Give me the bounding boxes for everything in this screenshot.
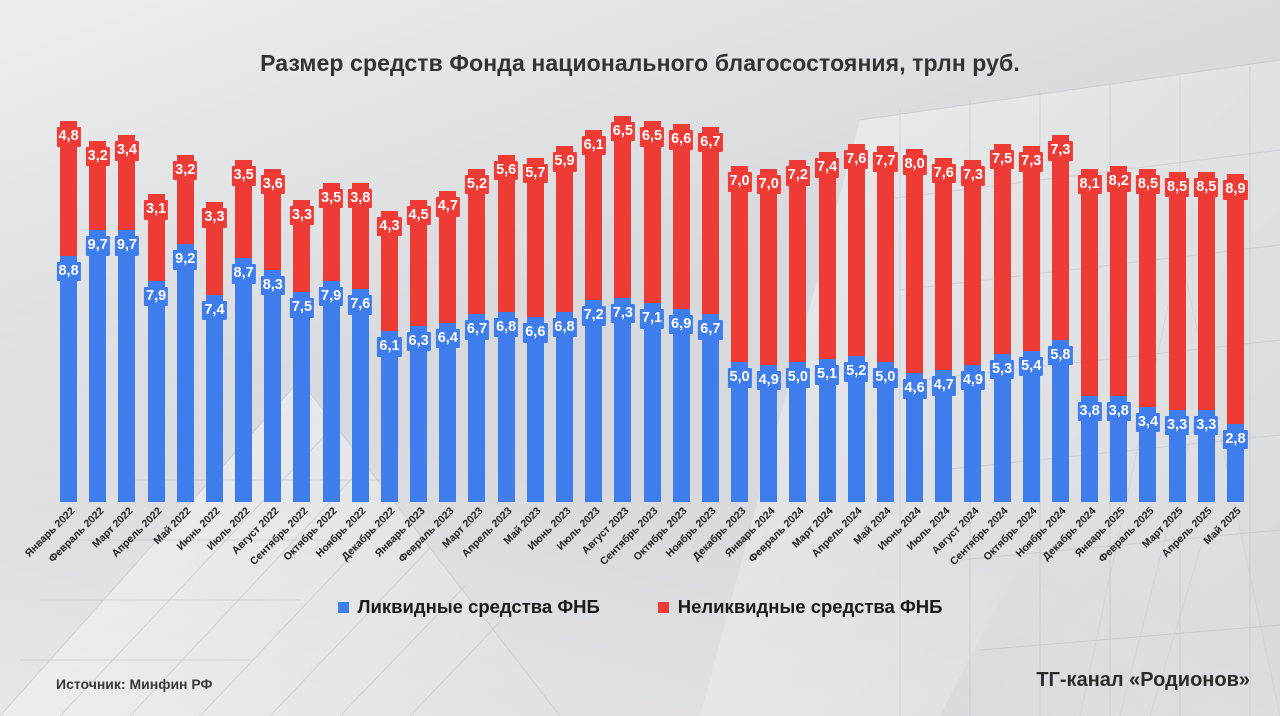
- bar-value-label-liquid: 7,3: [611, 304, 635, 324]
- bar-group: 4,88,83,29,73,49,73,17,93,29,23,37,43,58…: [54, 110, 1250, 502]
- bar-segment-illiquid[interactable]: 3,5: [235, 160, 252, 258]
- bar-segment-liquid[interactable]: 4,7: [935, 370, 952, 502]
- bar-value-label-illiquid: 3,5: [319, 189, 343, 209]
- bar-value-label-liquid: 2,8: [1223, 430, 1247, 450]
- bar-value-label-liquid: 3,8: [1078, 402, 1102, 422]
- bar-segment-liquid[interactable]: 2,8: [1227, 424, 1244, 502]
- bar-value-label-illiquid: 7,5: [990, 150, 1014, 170]
- bar-segment-liquid[interactable]: 6,7: [702, 314, 719, 502]
- bar-column[interactable]: 8,53,3: [1192, 110, 1221, 502]
- bar-segment-illiquid[interactable]: 7,3: [964, 160, 981, 364]
- bar-segment-liquid[interactable]: 8,7: [235, 258, 252, 502]
- bar-column[interactable]: 7,04,9: [754, 110, 783, 502]
- bar-segment-liquid[interactable]: 5,0: [789, 362, 806, 502]
- x-axis-tick: Апрель 2022: [142, 502, 171, 592]
- bar-value-label-liquid: 9,2: [173, 250, 197, 270]
- bar-column[interactable]: 6,17,2: [579, 110, 608, 502]
- bar-column[interactable]: 3,87,6: [346, 110, 375, 502]
- bar-column[interactable]: 3,17,9: [142, 110, 171, 502]
- bar-segment-liquid[interactable]: 3,8: [1110, 396, 1127, 502]
- bar-column[interactable]: 6,57,1: [637, 110, 666, 502]
- bar-segment-illiquid[interactable]: 8,0: [906, 149, 923, 373]
- bar-column[interactable]: 5,96,8: [550, 110, 579, 502]
- bar-value-label-liquid: 3,8: [1107, 402, 1131, 422]
- bar-column[interactable]: 3,49,7: [112, 110, 141, 502]
- bar-segment-illiquid[interactable]: 3,1: [148, 194, 165, 281]
- bar-segment-liquid[interactable]: 6,3: [410, 326, 427, 502]
- bar-column[interactable]: 3,68,3: [258, 110, 287, 502]
- bar-value-label-liquid: 3,3: [1194, 416, 1218, 436]
- bar-value-label-liquid: 6,1: [377, 337, 401, 357]
- bar-value-label-illiquid: 3,4: [115, 141, 139, 161]
- bar-value-label-illiquid: 6,7: [698, 133, 722, 153]
- x-axis-tick: Апрель 2023: [492, 502, 521, 592]
- bar-value-label-liquid: 6,3: [407, 332, 431, 352]
- bar-value-label-liquid: 8,3: [261, 276, 285, 296]
- bar-value-label-liquid: 7,4: [202, 301, 226, 321]
- bar-column[interactable]: 4,56,3: [404, 110, 433, 502]
- bar-value-label-illiquid: 8,0: [902, 155, 926, 175]
- bar-column[interactable]: 7,25,0: [783, 110, 812, 502]
- bar-column[interactable]: 4,88,8: [54, 110, 83, 502]
- bar-column[interactable]: 7,65,2: [842, 110, 871, 502]
- bar-column[interactable]: 7,45,1: [812, 110, 841, 502]
- bar-value-label-illiquid: 4,5: [407, 206, 431, 226]
- bar-segment-illiquid[interactable]: 8,9: [1227, 174, 1244, 423]
- bar-segment-illiquid[interactable]: 7,3: [1052, 135, 1069, 339]
- bar-value-label-liquid: 7,1: [640, 309, 664, 329]
- bar-value-label-liquid: 5,8: [1048, 346, 1072, 366]
- legend-swatch-illiquid-icon: [658, 602, 669, 613]
- bar-value-label-liquid: 8,7: [232, 264, 256, 284]
- credit-note: ТГ-канал «Родионов»: [1036, 669, 1250, 692]
- bar-segment-illiquid[interactable]: 3,6: [264, 169, 281, 270]
- bar-value-label-illiquid: 7,0: [757, 175, 781, 195]
- bar-segment-liquid[interactable]: 7,5: [293, 292, 310, 502]
- bar-column[interactable]: 8,13,8: [1075, 110, 1104, 502]
- bar-value-label-illiquid: 8,5: [1165, 178, 1189, 198]
- bar-value-label-liquid: 6,7: [698, 320, 722, 340]
- bar-segment-liquid[interactable]: 3,8: [1081, 396, 1098, 502]
- bar-segment-liquid[interactable]: 6,4: [439, 323, 456, 502]
- bar-segment-liquid[interactable]: 7,3: [614, 298, 631, 502]
- bar-value-label-illiquid: 3,8: [348, 189, 372, 209]
- x-axis-tick: Апрель 2024: [842, 502, 871, 592]
- bar-segment-illiquid[interactable]: 5,7: [527, 158, 544, 318]
- bar-segment-liquid[interactable]: 5,3: [994, 354, 1011, 502]
- bar-value-label-illiquid: 6,5: [640, 127, 664, 147]
- bar-column[interactable]: 7,35,8: [1046, 110, 1075, 502]
- bar-value-label-liquid: 5,4: [1019, 357, 1043, 377]
- bar-value-label-illiquid: 7,3: [1019, 152, 1043, 172]
- bar-value-label-liquid: 4,7: [932, 376, 956, 396]
- bar-segment-illiquid[interactable]: 7,0: [731, 166, 748, 362]
- bar-value-label-liquid: 6,7: [465, 320, 489, 340]
- bar-segment-liquid[interactable]: 3,3: [1198, 410, 1215, 502]
- bar-segment-liquid[interactable]: 5,4: [1023, 351, 1040, 502]
- bar-column[interactable]: 4,76,4: [433, 110, 462, 502]
- bar-segment-illiquid[interactable]: 3,5: [323, 183, 340, 281]
- legend-swatch-liquid-icon: [338, 602, 349, 613]
- bar-value-label-illiquid: 3,1: [144, 200, 168, 220]
- bar-value-label-liquid: 7,6: [348, 295, 372, 315]
- bar-value-label-liquid: 6,8: [494, 318, 518, 338]
- legend-label-illiquid: Неликвидные средства ФНБ: [678, 596, 943, 618]
- bar-segment-liquid[interactable]: 7,2: [585, 300, 602, 502]
- bar-segment-liquid[interactable]: 7,9: [148, 281, 165, 502]
- bar-segment-illiquid[interactable]: 6,6: [673, 124, 690, 309]
- bar-segment-liquid[interactable]: 4,9: [964, 365, 981, 502]
- bar-segment-liquid[interactable]: 5,1: [819, 359, 836, 502]
- bar-segment-illiquid[interactable]: 6,5: [644, 121, 661, 303]
- bar-segment-liquid[interactable]: 8,3: [264, 270, 281, 502]
- bar-column[interactable]: 5,76,6: [521, 110, 550, 502]
- bar-segment-liquid[interactable]: 5,2: [848, 356, 865, 502]
- bar-segment-illiquid[interactable]: 3,2: [89, 141, 106, 231]
- chart-canvas: Размер средств Фонда национального благо…: [0, 0, 1280, 716]
- bar-segment-illiquid[interactable]: 7,2: [789, 160, 806, 362]
- bar-segment-liquid[interactable]: 6,7: [468, 314, 485, 502]
- bar-value-label-illiquid: 6,6: [669, 130, 693, 150]
- bar-column[interactable]: 8,92,8: [1221, 110, 1250, 502]
- x-axis-labels: Январь 2022Февраль 2022Март 2022Апрель 2…: [54, 502, 1250, 592]
- bar-segment-illiquid[interactable]: 4,7: [439, 191, 456, 323]
- bar-segment-illiquid[interactable]: 7,0: [760, 169, 777, 365]
- bar-value-label-illiquid: 5,9: [552, 152, 576, 172]
- bar-value-label-illiquid: 4,7: [436, 197, 460, 217]
- bar-value-label-liquid: 5,3: [990, 360, 1014, 380]
- bar-column[interactable]: 6,57,3: [608, 110, 637, 502]
- bar-segment-liquid[interactable]: 9,7: [118, 230, 135, 502]
- bar-value-label-illiquid: 6,1: [582, 136, 606, 156]
- bar-segment-illiquid[interactable]: 8,5: [1198, 172, 1215, 410]
- bar-column[interactable]: 3,29,7: [83, 110, 112, 502]
- bar-column[interactable]: 3,37,5: [287, 110, 316, 502]
- bar-column[interactable]: 3,37,4: [200, 110, 229, 502]
- bar-segment-illiquid[interactable]: 8,5: [1139, 169, 1156, 407]
- bar-value-label-illiquid: 7,0: [727, 172, 751, 192]
- source-note: Источник: Минфин РФ: [56, 676, 213, 692]
- bar-segment-liquid[interactable]: 6,9: [673, 309, 690, 502]
- bar-value-label-liquid: 5,2: [844, 362, 868, 382]
- bar-segment-illiquid[interactable]: 4,3: [381, 211, 398, 331]
- bar-segment-illiquid[interactable]: 8,1: [1081, 169, 1098, 396]
- bar-segment-illiquid[interactable]: 3,4: [118, 135, 135, 230]
- bar-column[interactable]: 6,76,7: [696, 110, 725, 502]
- bar-column[interactable]: 3,57,9: [317, 110, 346, 502]
- bar-segment-illiquid[interactable]: 4,5: [410, 200, 427, 326]
- bar-column[interactable]: 7,55,3: [988, 110, 1017, 502]
- bar-value-label-liquid: 9,7: [115, 236, 139, 256]
- bar-value-label-illiquid: 7,6: [844, 150, 868, 170]
- bar-value-label-illiquid: 7,3: [961, 166, 985, 186]
- bar-value-label-illiquid: 4,3: [377, 217, 401, 237]
- bar-segment-illiquid[interactable]: 8,5: [1169, 172, 1186, 410]
- bar-segment-illiquid[interactable]: 3,3: [293, 200, 310, 292]
- bar-column[interactable]: 3,58,7: [229, 110, 258, 502]
- bar-segment-liquid[interactable]: 9,7: [89, 230, 106, 502]
- bar-value-label-illiquid: 6,5: [611, 122, 635, 142]
- bar-segment-liquid[interactable]: 7,1: [644, 303, 661, 502]
- bar-column[interactable]: 7,35,4: [1017, 110, 1046, 502]
- bar-value-label-liquid: 4,9: [961, 371, 985, 391]
- bar-value-label-liquid: 6,9: [669, 315, 693, 335]
- bar-segment-liquid[interactable]: 3,3: [1169, 410, 1186, 502]
- bar-column[interactable]: 8,53,4: [1133, 110, 1162, 502]
- bar-segment-illiquid[interactable]: 4,8: [60, 121, 77, 255]
- bar-value-label-illiquid: 5,7: [523, 164, 547, 184]
- bar-value-label-liquid: 5,0: [786, 368, 810, 388]
- legend-label-liquid: Ликвидные средства ФНБ: [358, 596, 600, 618]
- bar-value-label-illiquid: 3,2: [173, 161, 197, 181]
- bar-value-label-illiquid: 3,3: [290, 206, 314, 226]
- bar-value-label-liquid: 3,4: [1136, 413, 1160, 433]
- chart-legend: Ликвидные средства ФНБ Неликвидные средс…: [0, 596, 1280, 618]
- bar-value-label-illiquid: 8,5: [1136, 175, 1160, 195]
- bar-value-label-illiquid: 3,3: [202, 208, 226, 228]
- bar-segment-liquid[interactable]: 6,8: [556, 312, 573, 502]
- bar-segment-illiquid[interactable]: 3,2: [177, 155, 194, 245]
- bar-segment-illiquid[interactable]: 5,6: [498, 155, 515, 312]
- legend-item-liquid[interactable]: Ликвидные средства ФНБ: [338, 596, 600, 618]
- bar-column[interactable]: 8,23,8: [1104, 110, 1133, 502]
- x-axis-tick: Апрель 2025: [1192, 502, 1221, 592]
- bar-segment-liquid[interactable]: 3,4: [1139, 407, 1156, 502]
- bar-value-label-liquid: 3,3: [1165, 416, 1189, 436]
- bar-segment-liquid[interactable]: 6,1: [381, 331, 398, 502]
- bar-value-label-illiquid: 7,3: [1048, 141, 1072, 161]
- bar-segment-illiquid[interactable]: 7,5: [994, 144, 1011, 354]
- bar-column[interactable]: 5,26,7: [462, 110, 491, 502]
- bar-value-label-illiquid: 3,2: [86, 147, 110, 167]
- bar-value-label-liquid: 9,7: [86, 236, 110, 256]
- bar-segment-illiquid[interactable]: 7,6: [848, 144, 865, 357]
- bar-segment-illiquid[interactable]: 8,2: [1110, 166, 1127, 396]
- bar-column[interactable]: 4,36,1: [375, 110, 404, 502]
- bar-column[interactable]: 8,53,3: [1163, 110, 1192, 502]
- bar-segment-illiquid[interactable]: 7,6: [935, 158, 952, 371]
- bar-value-label-illiquid: 3,5: [232, 166, 256, 186]
- bar-segment-liquid[interactable]: 7,9: [323, 281, 340, 502]
- bar-value-label-liquid: 5,0: [727, 368, 751, 388]
- bar-segment-liquid[interactable]: 6,8: [498, 312, 515, 502]
- bar-segment-illiquid[interactable]: 7,7: [877, 146, 894, 362]
- bar-value-label-liquid: 6,4: [436, 329, 460, 349]
- bar-value-label-liquid: 4,9: [757, 371, 781, 391]
- bar-segment-illiquid[interactable]: 6,7: [702, 127, 719, 315]
- bar-value-label-illiquid: 5,6: [494, 161, 518, 181]
- x-axis-tick: Май 2025: [1221, 502, 1250, 592]
- bar-value-label-illiquid: 4,8: [56, 127, 80, 147]
- bar-value-label-liquid: 7,9: [319, 287, 343, 307]
- bar-value-label-liquid: 7,5: [290, 298, 314, 318]
- bar-column[interactable]: 7,34,9: [958, 110, 987, 502]
- bar-segment-illiquid[interactable]: 3,3: [206, 202, 223, 294]
- bar-value-label-illiquid: 5,2: [465, 175, 489, 195]
- bar-segment-liquid[interactable]: 6,6: [527, 317, 544, 502]
- bar-value-label-liquid: 6,6: [523, 323, 547, 343]
- bar-value-label-illiquid: 7,7: [873, 152, 897, 172]
- bar-segment-liquid[interactable]: 7,6: [352, 289, 369, 502]
- bar-value-label-illiquid: 7,2: [786, 166, 810, 186]
- bar-column[interactable]: 5,66,8: [492, 110, 521, 502]
- bar-segment-illiquid[interactable]: 6,5: [614, 116, 631, 298]
- bar-value-label-liquid: 4,6: [902, 379, 926, 399]
- bar-segment-illiquid[interactable]: 7,3: [1023, 146, 1040, 350]
- bar-segment-liquid[interactable]: 4,6: [906, 373, 923, 502]
- plot-area: 4,88,83,29,73,49,73,17,93,29,23,37,43,58…: [54, 110, 1250, 502]
- bar-segment-liquid[interactable]: 5,0: [877, 362, 894, 502]
- bar-segment-liquid[interactable]: 8,8: [60, 256, 77, 502]
- bar-value-label-illiquid: 8,1: [1078, 175, 1102, 195]
- chart-title: Размер средств Фонда национального благо…: [0, 50, 1280, 77]
- bar-column[interactable]: 6,66,9: [667, 110, 696, 502]
- bar-column[interactable]: 8,04,6: [900, 110, 929, 502]
- bar-column[interactable]: 7,64,7: [929, 110, 958, 502]
- bar-segment-liquid[interactable]: 5,8: [1052, 340, 1069, 502]
- bar-segment-liquid[interactable]: 4,9: [760, 365, 777, 502]
- bar-value-label-illiquid: 8,2: [1107, 172, 1131, 192]
- bar-value-label-illiquid: 8,9: [1223, 180, 1247, 200]
- bar-column[interactable]: 7,75,0: [871, 110, 900, 502]
- bar-value-label-liquid: 6,8: [552, 318, 576, 338]
- bar-segment-illiquid[interactable]: 5,2: [468, 169, 485, 315]
- bar-segment-liquid[interactable]: 9,2: [177, 244, 194, 502]
- bar-value-label-liquid: 5,0: [873, 368, 897, 388]
- bar-segment-liquid[interactable]: 5,0: [731, 362, 748, 502]
- bar-value-label-illiquid: 7,6: [932, 164, 956, 184]
- bar-column[interactable]: 3,29,2: [171, 110, 200, 502]
- bar-value-label-liquid: 5,1: [815, 365, 839, 385]
- bar-column[interactable]: 7,05,0: [725, 110, 754, 502]
- bar-segment-illiquid[interactable]: 7,4: [819, 152, 836, 359]
- bar-segment-liquid[interactable]: 7,4: [206, 295, 223, 502]
- legend-item-illiquid[interactable]: Неликвидные средства ФНБ: [658, 596, 943, 618]
- bar-segment-illiquid[interactable]: 5,9: [556, 146, 573, 311]
- bar-value-label-liquid: 7,2: [582, 306, 606, 326]
- bar-value-label-illiquid: 8,5: [1194, 178, 1218, 198]
- bar-value-label-liquid: 7,9: [144, 287, 168, 307]
- bar-value-label-illiquid: 7,4: [815, 158, 839, 178]
- bar-segment-illiquid[interactable]: 3,8: [352, 183, 369, 289]
- bar-value-label-liquid: 8,8: [56, 262, 80, 282]
- bar-segment-illiquid[interactable]: 6,1: [585, 130, 602, 301]
- bar-value-label-illiquid: 3,6: [261, 175, 285, 195]
